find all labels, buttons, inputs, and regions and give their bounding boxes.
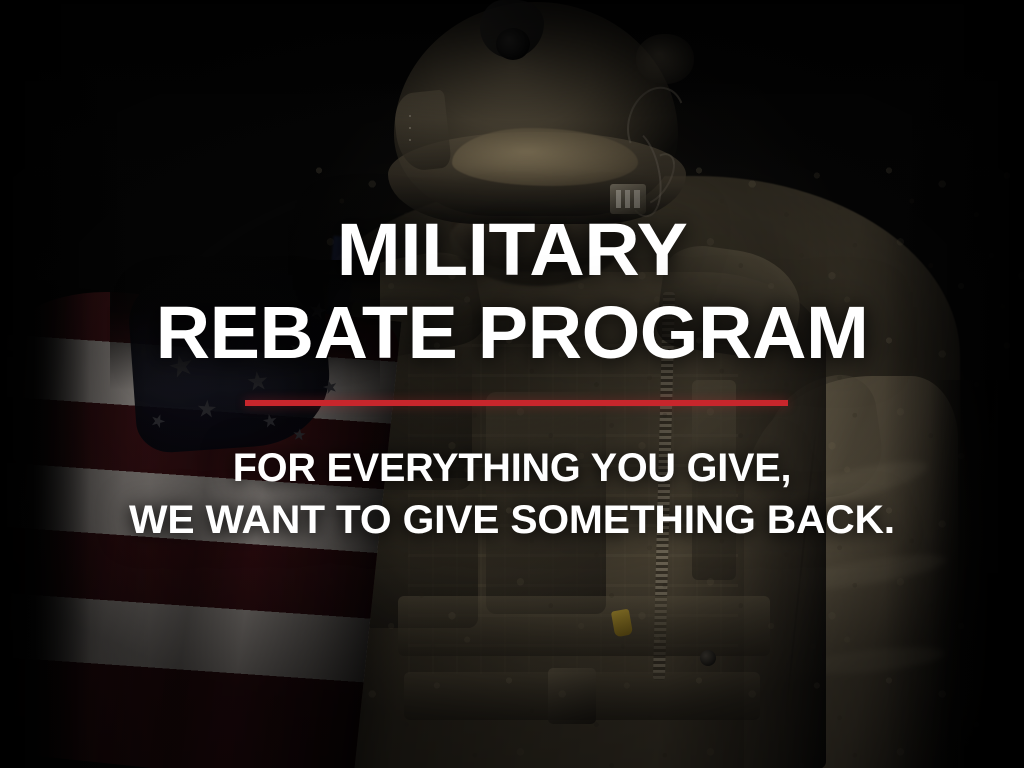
red-divider-rule <box>245 400 788 406</box>
subheadline-line-1: FOR EVERYTHING YOU GIVE, <box>5 446 1019 491</box>
headline-line-2: REBATE PROGRAM <box>0 299 1024 368</box>
slide-canvas: ★★★★★★★★★★ MILITARY REBATE PROGRAM FOR E… <box>0 0 1024 768</box>
headline-line-1: MILITARY <box>0 216 1024 285</box>
text-overlay: MILITARY REBATE PROGRAM FOR EVERYTHING Y… <box>0 0 1024 768</box>
subheadline-line-2: WE WANT TO GIVE SOMETHING BACK. <box>0 498 1024 543</box>
